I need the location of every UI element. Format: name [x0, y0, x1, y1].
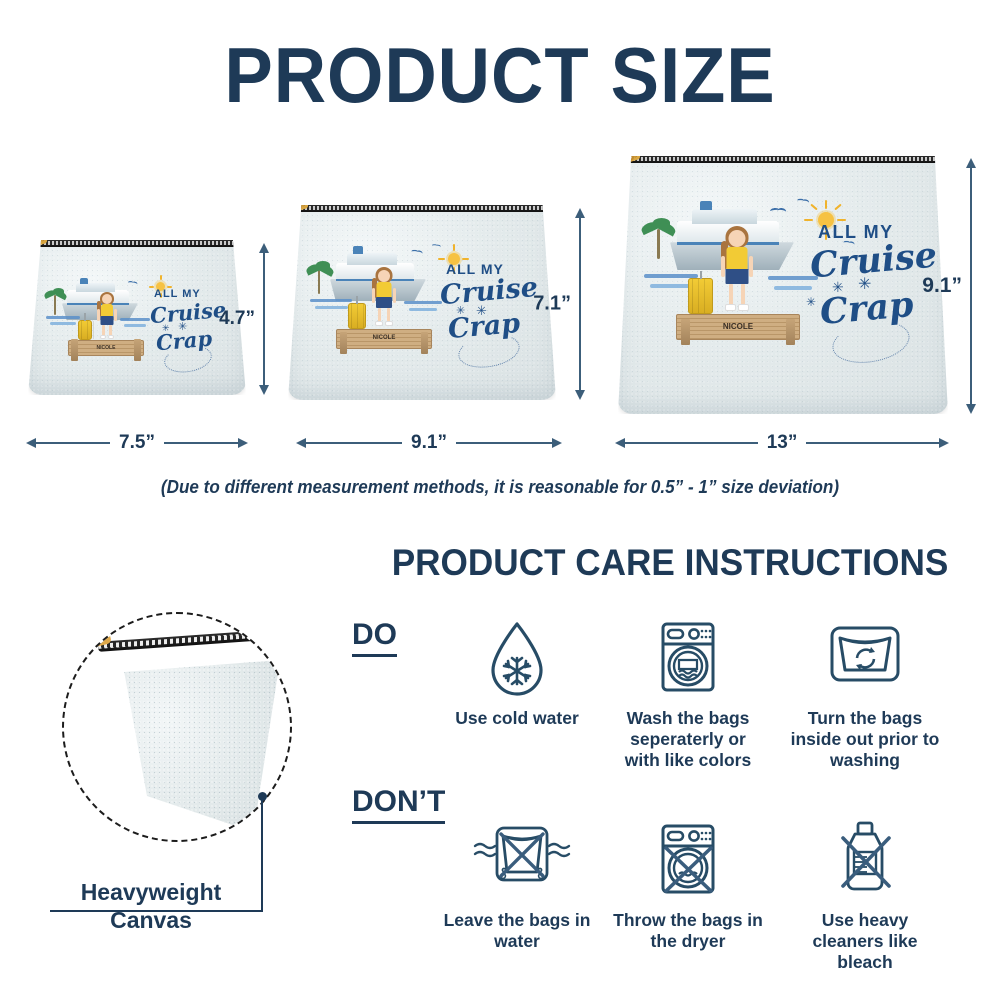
care-item-turn-inside-out: Turn the bags inside out prior to washin… [790, 618, 940, 771]
dimension-small-width: 7.5” [26, 432, 248, 454]
bird-icon [797, 199, 804, 203]
care-item-text: Use heavy cleaners like bleach [790, 910, 940, 973]
zipper [625, 156, 942, 163]
zipper [32, 240, 241, 247]
care-item-text: Wash the bags seperaterly or with like c… [613, 708, 763, 771]
name-plate: NICOLE [373, 335, 396, 341]
care-item-no-soak: Leave the bags in water [442, 820, 592, 952]
suitcase-icon [688, 278, 713, 314]
bird-icon [432, 244, 437, 247]
dimension-medium-width: 9.1” [296, 432, 562, 454]
care-item-wash-separately: Wash the bags seperaterly or with like c… [613, 618, 763, 771]
cold-water-droplet-icon [473, 618, 561, 702]
wave-line [404, 301, 442, 304]
dimension-label: 9.1” [922, 274, 962, 298]
dimension-label: 4.7” [219, 308, 255, 330]
wave-line [315, 306, 348, 309]
canvas-detail-photo [62, 612, 292, 842]
dont-section-label: DON’T [352, 785, 445, 824]
dimension-label: 9.1” [402, 432, 456, 454]
canvas-label-line2: Canvas [46, 906, 256, 934]
care-item-cold-water: Use cold water [442, 618, 592, 729]
bag-medium: NICOLE ALL MY Cruise [288, 205, 556, 400]
canvas-texture [90, 648, 280, 842]
bird-icon [411, 250, 417, 254]
suitcase-icon [348, 303, 366, 329]
page-title: PRODUCT SIZE [35, 36, 965, 114]
no-soak-in-water-icon [473, 820, 561, 904]
product-infographic: PRODUCT SIZE [0, 0, 1000, 1000]
wave-line [124, 324, 146, 327]
dimension-medium-height: 7.1” [575, 208, 585, 400]
bird-icon [770, 207, 780, 213]
girl-character [716, 226, 758, 316]
bag-medium-artwork: NICOLE ALL MY Cruise [288, 205, 556, 400]
zipper [293, 205, 550, 212]
palm-tree-icon [308, 261, 330, 293]
washing-machine-icon [644, 618, 732, 702]
wave-line [50, 322, 76, 325]
dimension-label: 13” [758, 432, 807, 454]
size-deviation-disclaimer: (Due to different measurement methods, i… [25, 477, 975, 498]
dock: NICOLE [676, 314, 800, 340]
dimension-large-height: 9.1” [966, 158, 976, 414]
palm-tree-icon [644, 218, 672, 258]
suitcase-icon [78, 320, 92, 340]
dimension-label: 7.5” [110, 432, 164, 454]
care-item-text: Use cold water [442, 708, 592, 729]
bag-large: NICOLE ALL MY Cruise [618, 156, 948, 414]
wave-line [310, 299, 352, 302]
wave-line [46, 316, 80, 319]
canvas-callout-label: Heavyweight Canvas [46, 878, 256, 934]
do-section-label: DO [352, 618, 397, 657]
care-item-no-bleach: Use heavy cleaners like bleach [790, 820, 940, 973]
bag-text-cruise: Cruise [439, 272, 539, 311]
wave-line [120, 318, 150, 321]
turn-inside-out-icon [821, 618, 909, 702]
dock: NICOLE [336, 329, 432, 349]
girl-character [368, 267, 400, 329]
no-bleach-icon [821, 820, 909, 904]
care-item-text: Throw the bags in the dryer [613, 910, 763, 952]
dimension-large-width: 13” [615, 432, 949, 454]
care-item-text: Turn the bags inside out prior to washin… [790, 708, 940, 771]
bag-text-allmy: ALL MY [154, 288, 201, 300]
care-item-text: Leave the bags in water [442, 910, 592, 952]
name-plate: NICOLE [723, 322, 753, 331]
girl-character [94, 292, 120, 342]
bag-large-artwork: NICOLE ALL MY Cruise [618, 156, 948, 414]
name-plate: NICOLE [97, 345, 116, 351]
wave-line [409, 308, 437, 311]
zipper [98, 630, 266, 652]
bag-small-artwork: NICOLE A [28, 240, 246, 395]
canvas-label-line1: Heavyweight [46, 878, 256, 906]
dimension-small-height: 4.7” [259, 243, 269, 395]
bag-small: NICOLE A [28, 240, 246, 395]
wave-line [650, 284, 692, 288]
callout-line-vertical [261, 798, 263, 912]
care-instructions-title: PRODUCT CARE INSTRUCTIONS [364, 543, 976, 583]
bag-text-cruise: Cruise [149, 297, 227, 329]
dimension-label: 7.1” [533, 293, 571, 316]
dock: NICOLE [68, 340, 144, 356]
care-item-no-dryer: Throw the bags in the dryer [613, 820, 763, 952]
no-dryer-icon [644, 820, 732, 904]
wave-line [774, 286, 812, 290]
bird-icon [128, 281, 133, 284]
